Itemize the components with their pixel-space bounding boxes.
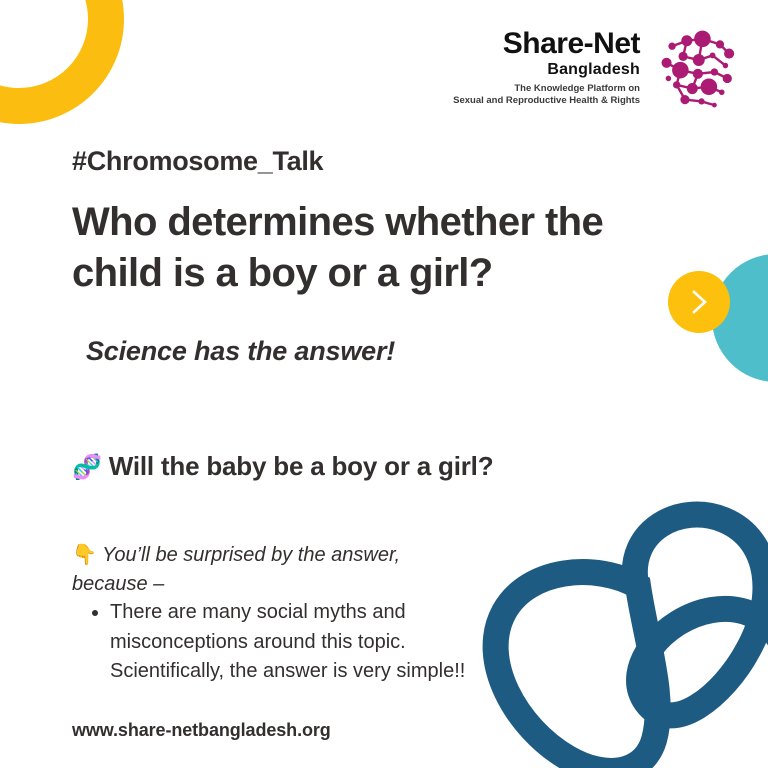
- share-net-logo: Share-Net Bangladesh The Knowledge Platf…: [453, 26, 742, 118]
- logo-name: Share-Net: [453, 28, 640, 60]
- list-item: There are many social myths and misconce…: [110, 598, 500, 687]
- logo-country: Bangladesh: [453, 60, 640, 81]
- blue-loops-shape: [476, 490, 768, 768]
- logo-tagline-line-1: The Knowledge Platform on: [453, 83, 640, 95]
- chevron-right-icon: [686, 287, 712, 317]
- bullet-list: There are many social myths and misconce…: [88, 598, 500, 687]
- logo-tagline: The Knowledge Platform on Sexual and Rep…: [453, 83, 640, 107]
- dna-icon: 🧬: [72, 454, 102, 481]
- hashtag-label: #Chromosome_Talk: [72, 146, 323, 177]
- page-title: Who determines whether the child is a bo…: [72, 197, 672, 299]
- yellow-ring-shape: [0, 0, 124, 124]
- lede-paragraph: 👇 You’ll be surprised by the answer, bec…: [72, 541, 472, 599]
- logo-tagline-line-2: Sexual and Reproductive Health & Rights: [453, 95, 640, 107]
- website-url[interactable]: www.share-netbangladesh.org: [72, 720, 331, 741]
- logo-text-block: Share-Net Bangladesh The Knowledge Platf…: [453, 26, 640, 108]
- question-text: Will the baby be a boy or a girl?: [109, 451, 494, 481]
- subheadline: Science has the answer!: [86, 336, 395, 367]
- question-heading: 🧬 Will the baby be a boy or a girl?: [72, 448, 502, 486]
- point-down-icon: 👇: [72, 544, 97, 566]
- molecule-network-icon: [650, 26, 742, 118]
- next-arrow-button[interactable]: [668, 271, 730, 333]
- poster-canvas: Share-Net Bangladesh The Knowledge Platf…: [0, 0, 768, 768]
- lede-text: You’ll be surprised by the answer, becau…: [72, 544, 400, 595]
